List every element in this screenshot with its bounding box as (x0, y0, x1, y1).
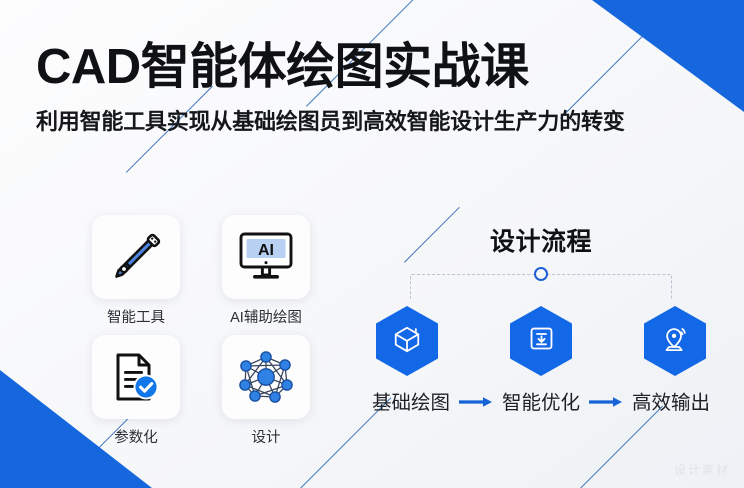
flow-node-basic-drafting[interactable] (376, 306, 438, 376)
feature-icon-tile (92, 335, 180, 419)
cube-box-icon (392, 324, 422, 359)
feature-item-ai-drafting[interactable]: AI AI辅助绘图 (216, 215, 316, 327)
headline-block: CAD智能体绘图实战课 利用智能工具实现从基础绘图员到高效智能设计生产力的转变 (36, 42, 708, 136)
feature-item-design[interactable]: 设计 (216, 335, 316, 447)
feature-icon-tile (222, 335, 310, 419)
flow-label-row: 基础绘图 智能优化 高效输出 (358, 386, 724, 415)
circle-node-icon (534, 267, 548, 281)
feature-label: 设计 (216, 426, 316, 447)
arrow-right-icon (459, 395, 493, 407)
flow-node-row (358, 306, 724, 376)
feature-label: 智能工具 (86, 306, 186, 327)
flow-connector (410, 274, 672, 300)
page-title: CAD智能体绘图实战课 (36, 42, 708, 93)
diagonal-line (576, 406, 663, 488)
feature-icon-tile: AI (222, 215, 310, 299)
flow-title: 设计流程 (358, 222, 724, 258)
feature-item-smart-tools[interactable]: 智能工具 (86, 215, 186, 327)
download-box-icon (527, 324, 556, 358)
flow-label-basic-drafting: 基础绘图 (372, 386, 450, 415)
feature-label: AI辅助绘图 (216, 306, 316, 327)
poster-canvas: CAD智能体绘图实战课 利用智能工具实现从基础绘图员到高效智能设计生产力的转变 (0, 0, 744, 488)
feature-item-parametric[interactable]: 参数化 (86, 335, 186, 447)
document-check-icon (108, 349, 164, 405)
monitor-screen-text: AI (258, 242, 274, 259)
location-signal-icon (660, 324, 690, 359)
pen-nib-icon (108, 229, 164, 285)
network-nodes-icon (237, 349, 295, 405)
page-subtitle: 利用智能工具实现从基础绘图员到高效智能设计生产力的转变 (36, 104, 708, 136)
flow-label-efficient-output: 高效输出 (632, 386, 710, 415)
flow-node-efficient-output[interactable] (644, 306, 706, 376)
watermark: 设计素材 (674, 461, 730, 478)
flow-label-smart-optimize: 智能优化 (502, 386, 580, 415)
design-flow-panel: 设计流程 (358, 222, 724, 415)
feature-grid: 智能工具 AI AI辅助绘图 (86, 215, 316, 447)
feature-icon-tile (92, 215, 180, 299)
monitor-ai-icon: AI (237, 230, 295, 284)
arrow-right-icon (589, 395, 623, 407)
flow-node-smart-optimize[interactable] (510, 306, 572, 376)
feature-label: 参数化 (86, 426, 186, 447)
